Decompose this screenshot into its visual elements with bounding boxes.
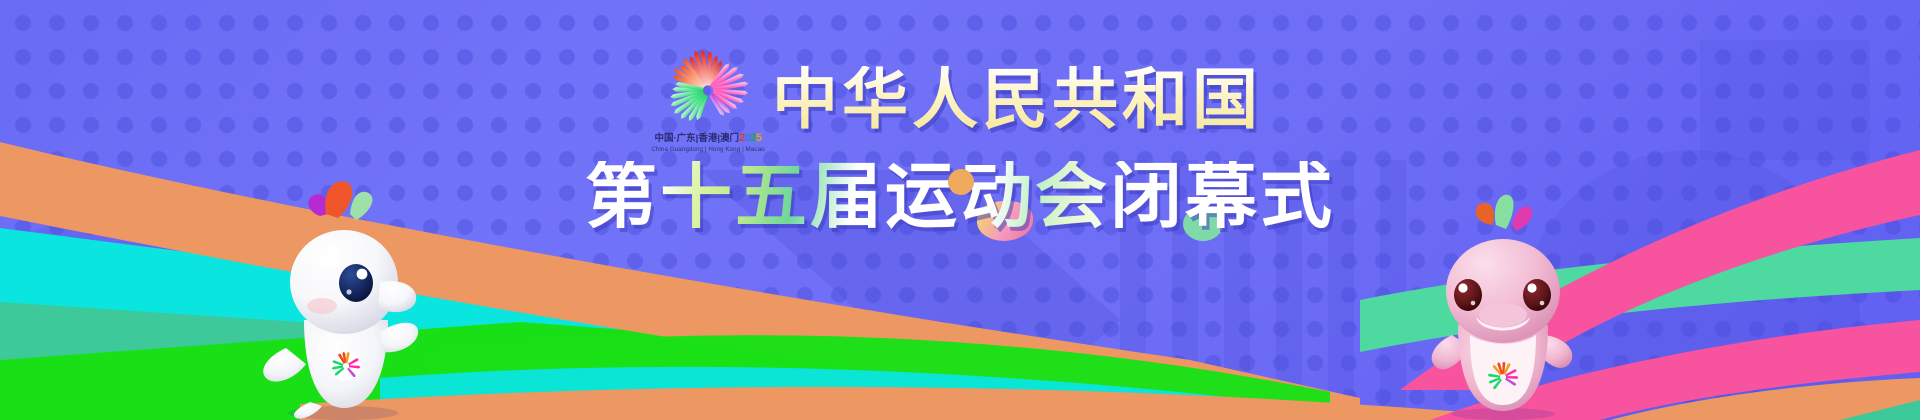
ribbon-teal bbox=[0, 302, 1200, 420]
mascot-eye-highlight bbox=[357, 269, 368, 280]
mascot-eye-left-highlight-small bbox=[1471, 301, 1476, 306]
closing-ceremony-banner: 中国·广东|香港|澳门2025 China Guangdong | Hong K… bbox=[0, 0, 1920, 420]
mascot-eye-left bbox=[1454, 279, 1482, 311]
ribbon-orange-lower bbox=[300, 387, 1560, 420]
mascot-chest-emblem-icon bbox=[331, 351, 361, 381]
ribbon-bright-green bbox=[0, 322, 1240, 420]
emblem-caption-en: China Guangdong | Hong Kong | Macao bbox=[651, 147, 764, 154]
ribbon-orange-right bbox=[1610, 378, 1920, 420]
title-line-2-wrapper: 第十五届运动会闭幕式 bbox=[585, 161, 1335, 233]
title-row-primary: 中国·广东|香港|澳门2025 China Guangdong | Hong K… bbox=[658, 44, 1262, 153]
title-line-1: 中华人民共和国 bbox=[772, 66, 1262, 132]
mascot-eye bbox=[339, 264, 373, 302]
emblem-caption-cn: 中国·广东|香港|澳门 bbox=[655, 134, 739, 144]
mascot-white-dolphin bbox=[248, 170, 428, 420]
ribbon-cyan bbox=[0, 228, 1180, 420]
ribbon-green-center bbox=[430, 335, 1330, 420]
mascot-eye-right bbox=[1523, 279, 1551, 311]
ribbon-cyan-center bbox=[380, 367, 1400, 420]
mascot-eye-highlight-small bbox=[346, 289, 351, 294]
mascot-eye-left-highlight bbox=[1458, 283, 1467, 292]
mascot-pink-dolphin bbox=[1418, 185, 1588, 420]
emblem-year: 2025 bbox=[739, 133, 762, 145]
ribbon-teal-right bbox=[1840, 400, 1920, 420]
background-circle-left bbox=[0, 220, 240, 420]
mascot-snout-tip bbox=[1479, 303, 1527, 327]
emblem-caption: 中国·广东|香港|澳门2025 China Guangdong | Hong K… bbox=[651, 129, 764, 153]
emblem-burst-icon bbox=[665, 46, 751, 128]
mascot-flipper-left bbox=[263, 348, 306, 382]
mascot-snout bbox=[378, 281, 416, 312]
mascot-crest-icon bbox=[1476, 195, 1533, 231]
mascot-crest-icon bbox=[308, 181, 372, 220]
mascot-eye-right-highlight-small bbox=[1540, 301, 1545, 306]
mascot-blush bbox=[307, 298, 337, 314]
games-emblem: 中国·广东|香港|澳门2025 China Guangdong | Hong K… bbox=[658, 46, 758, 153]
mascot-eye-right-highlight bbox=[1527, 283, 1536, 292]
